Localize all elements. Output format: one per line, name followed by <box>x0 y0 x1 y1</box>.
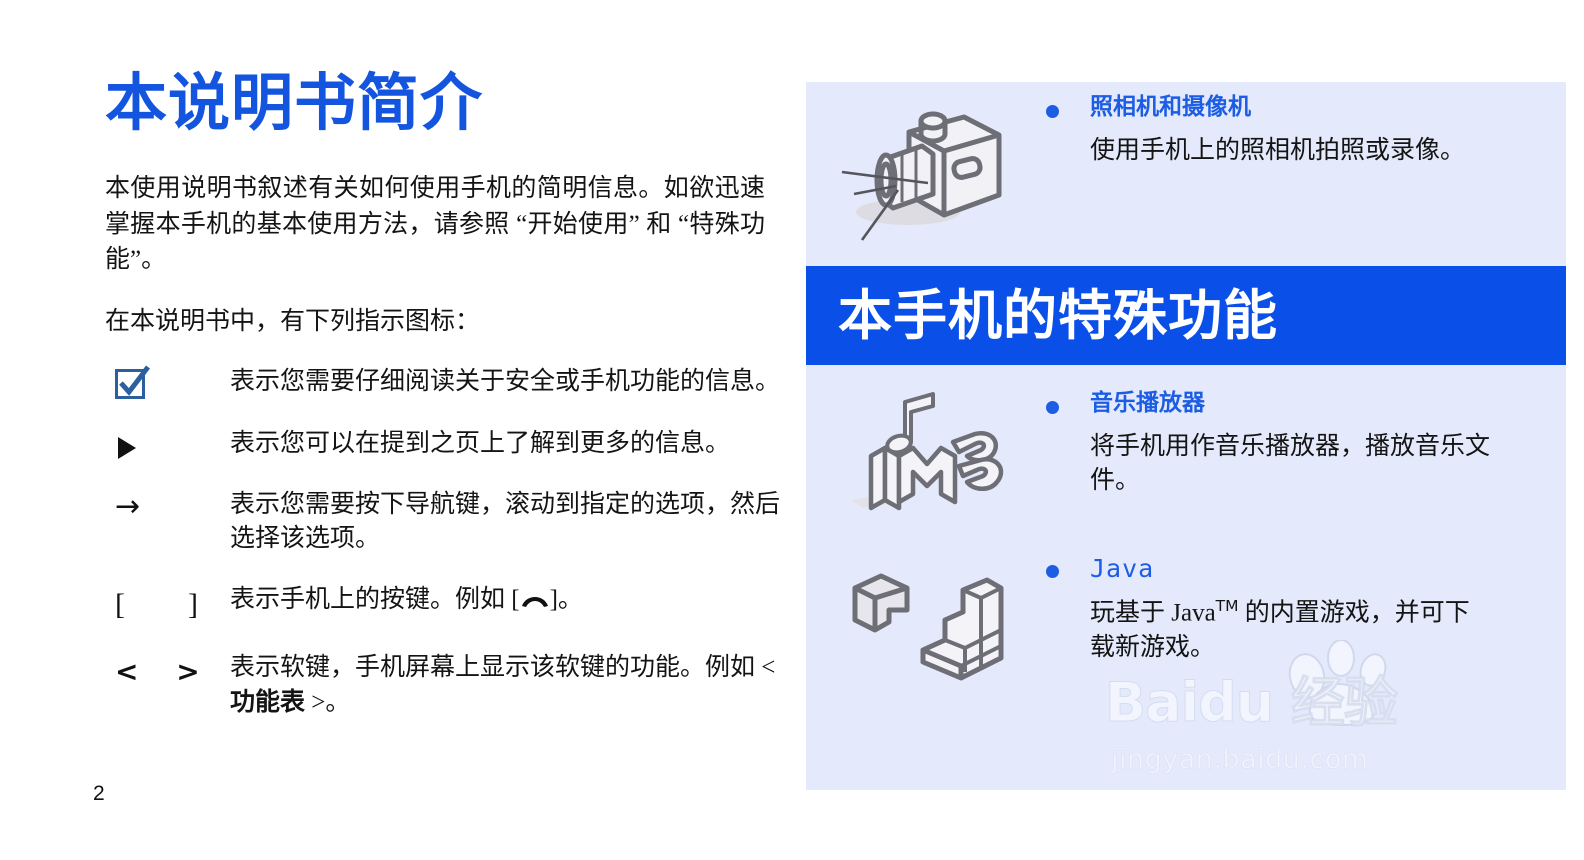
features-section-bottom: 音乐播放器 将手机用作音乐播放器，播放音乐文件。 <box>806 384 1566 684</box>
page-title: 本说明书简介 <box>105 70 785 135</box>
angle-brackets-icon: < > <box>115 653 214 691</box>
special-features-banner: 本手机的特殊功能 <box>806 266 1566 365</box>
legend-item-text: 表示您需要仔细阅读关于安全或手机功能的信息。 <box>230 365 785 400</box>
legend-text-before: 表示手机上的按键。例如 [ <box>230 586 520 613</box>
legend-item-navigation: → 表示您需要按下导航键，滚动到指定的选项，然后选择该选项。 <box>105 488 785 557</box>
legend-item-softkey: < > 表示软键，手机屏幕上显示该软键的功能。例如 < 功能表 >。 <box>105 651 785 720</box>
legend-text-bold: 功能表 <box>230 689 305 716</box>
camera-icon <box>806 88 1046 244</box>
feature-description: 玩基于 JavaTM 的内置游戏，并可下载新游戏。 <box>1090 596 1490 665</box>
legend-item-text: 表示软键，手机屏幕上显示该软键的功能。例如 < 功能表 >。 <box>230 651 785 720</box>
legend-symbol: [ ] <box>105 583 230 626</box>
page-number: 2 <box>93 782 105 806</box>
bullet-icon <box>1046 554 1090 665</box>
feature-item-java: Java 玩基于 JavaTM 的内置游戏，并可下载新游戏。 <box>806 548 1566 684</box>
triangle-right-icon <box>118 437 136 459</box>
feature-heading: Java <box>1090 554 1566 584</box>
feature-text: 音乐播放器 将手机用作音乐播放器，播放音乐文件。 <box>1090 390 1566 499</box>
feature-text: Java 玩基于 JavaTM 的内置游戏，并可下载新游戏。 <box>1090 554 1566 665</box>
intro-paragraph: 本使用说明书叙述有关如何使用手机的简明信息。如欲迅速掌握本手机的基本使用方法，请… <box>105 171 765 278</box>
feature-item-camera: 照相机和摄像机 使用手机上的照相机拍照或录像。 <box>806 88 1566 244</box>
legend-symbol: → <box>105 488 230 522</box>
legend-list: 表示您需要仔细阅读关于安全或手机功能的信息。 表示您可以在提到之页上了解到更多的… <box>105 365 785 720</box>
mp3-music-icon <box>806 384 1046 520</box>
feature-item-music-player: 音乐播放器 将手机用作音乐播放器，播放音乐文件。 <box>806 384 1566 520</box>
feature-desc-before: 玩基于 Java <box>1090 599 1216 626</box>
legend-item-note: 表示您需要仔细阅读关于安全或手机功能的信息。 <box>105 365 785 401</box>
legend-symbol <box>105 427 230 459</box>
feature-body: 照相机和摄像机 使用手机上的照相机拍照或录像。 <box>1046 88 1566 168</box>
legend-item-text: 表示您需要按下导航键，滚动到指定的选项，然后选择该选项。 <box>230 488 785 557</box>
arrow-right-icon: → <box>115 492 140 522</box>
legend-item-text: 表示手机上的按键。例如 []。 <box>230 583 785 620</box>
legend-lead-text: 在本说明书中，有下列指示图标： <box>105 304 765 340</box>
feature-description: 使用手机上的照相机拍照或录像。 <box>1090 134 1490 169</box>
legend-item-reference: 表示您可以在提到之页上了解到更多的信息。 <box>105 427 785 462</box>
features-panel: 照相机和摄像机 使用手机上的照相机拍照或录像。 <box>806 82 1566 790</box>
banner-title: 本手机的特殊功能 <box>806 289 1278 343</box>
phone-handset-icon <box>520 585 550 620</box>
feature-body: Java 玩基于 JavaTM 的内置游戏，并可下载新游戏。 <box>1046 548 1566 665</box>
feature-heading: 音乐播放器 <box>1090 390 1566 418</box>
legend-item-text: 表示您可以在提到之页上了解到更多的信息。 <box>230 427 785 462</box>
java-blocks-icon <box>806 548 1046 684</box>
legend-item-hardkey: [ ] 表示手机上的按键。例如 []。 <box>105 583 785 626</box>
feature-body: 音乐播放器 将手机用作音乐播放器，播放音乐文件。 <box>1046 384 1566 499</box>
checkbox-checked-icon <box>115 367 151 401</box>
legend-text-after: ]。 <box>550 586 583 613</box>
legend-symbol <box>105 365 230 401</box>
feature-description: 将手机用作音乐播放器，播放音乐文件。 <box>1090 430 1490 499</box>
manual-page: 本说明书简介 本使用说明书叙述有关如何使用手机的简明信息。如欲迅速掌握本手机的基… <box>0 0 1584 860</box>
legend-text-after: >。 <box>305 689 350 716</box>
bullet-icon <box>1046 94 1090 168</box>
legend-text-before: 表示软键，手机屏幕上显示该软键的功能。例如 < <box>230 654 775 681</box>
bullet-icon <box>1046 390 1090 499</box>
feature-heading: 照相机和摄像机 <box>1090 94 1566 122</box>
feature-text: 照相机和摄像机 使用手机上的照相机拍照或录像。 <box>1090 94 1566 168</box>
square-brackets-icon: [ ] <box>115 585 214 626</box>
features-section-top: 照相机和摄像机 使用手机上的照相机拍照或录像。 <box>806 88 1566 244</box>
legend-symbol: < > <box>105 651 230 691</box>
trademark-superscript: TM <box>1216 597 1239 615</box>
left-column: 本说明书简介 本使用说明书叙述有关如何使用手机的简明信息。如欲迅速掌握本手机的基… <box>105 70 785 746</box>
